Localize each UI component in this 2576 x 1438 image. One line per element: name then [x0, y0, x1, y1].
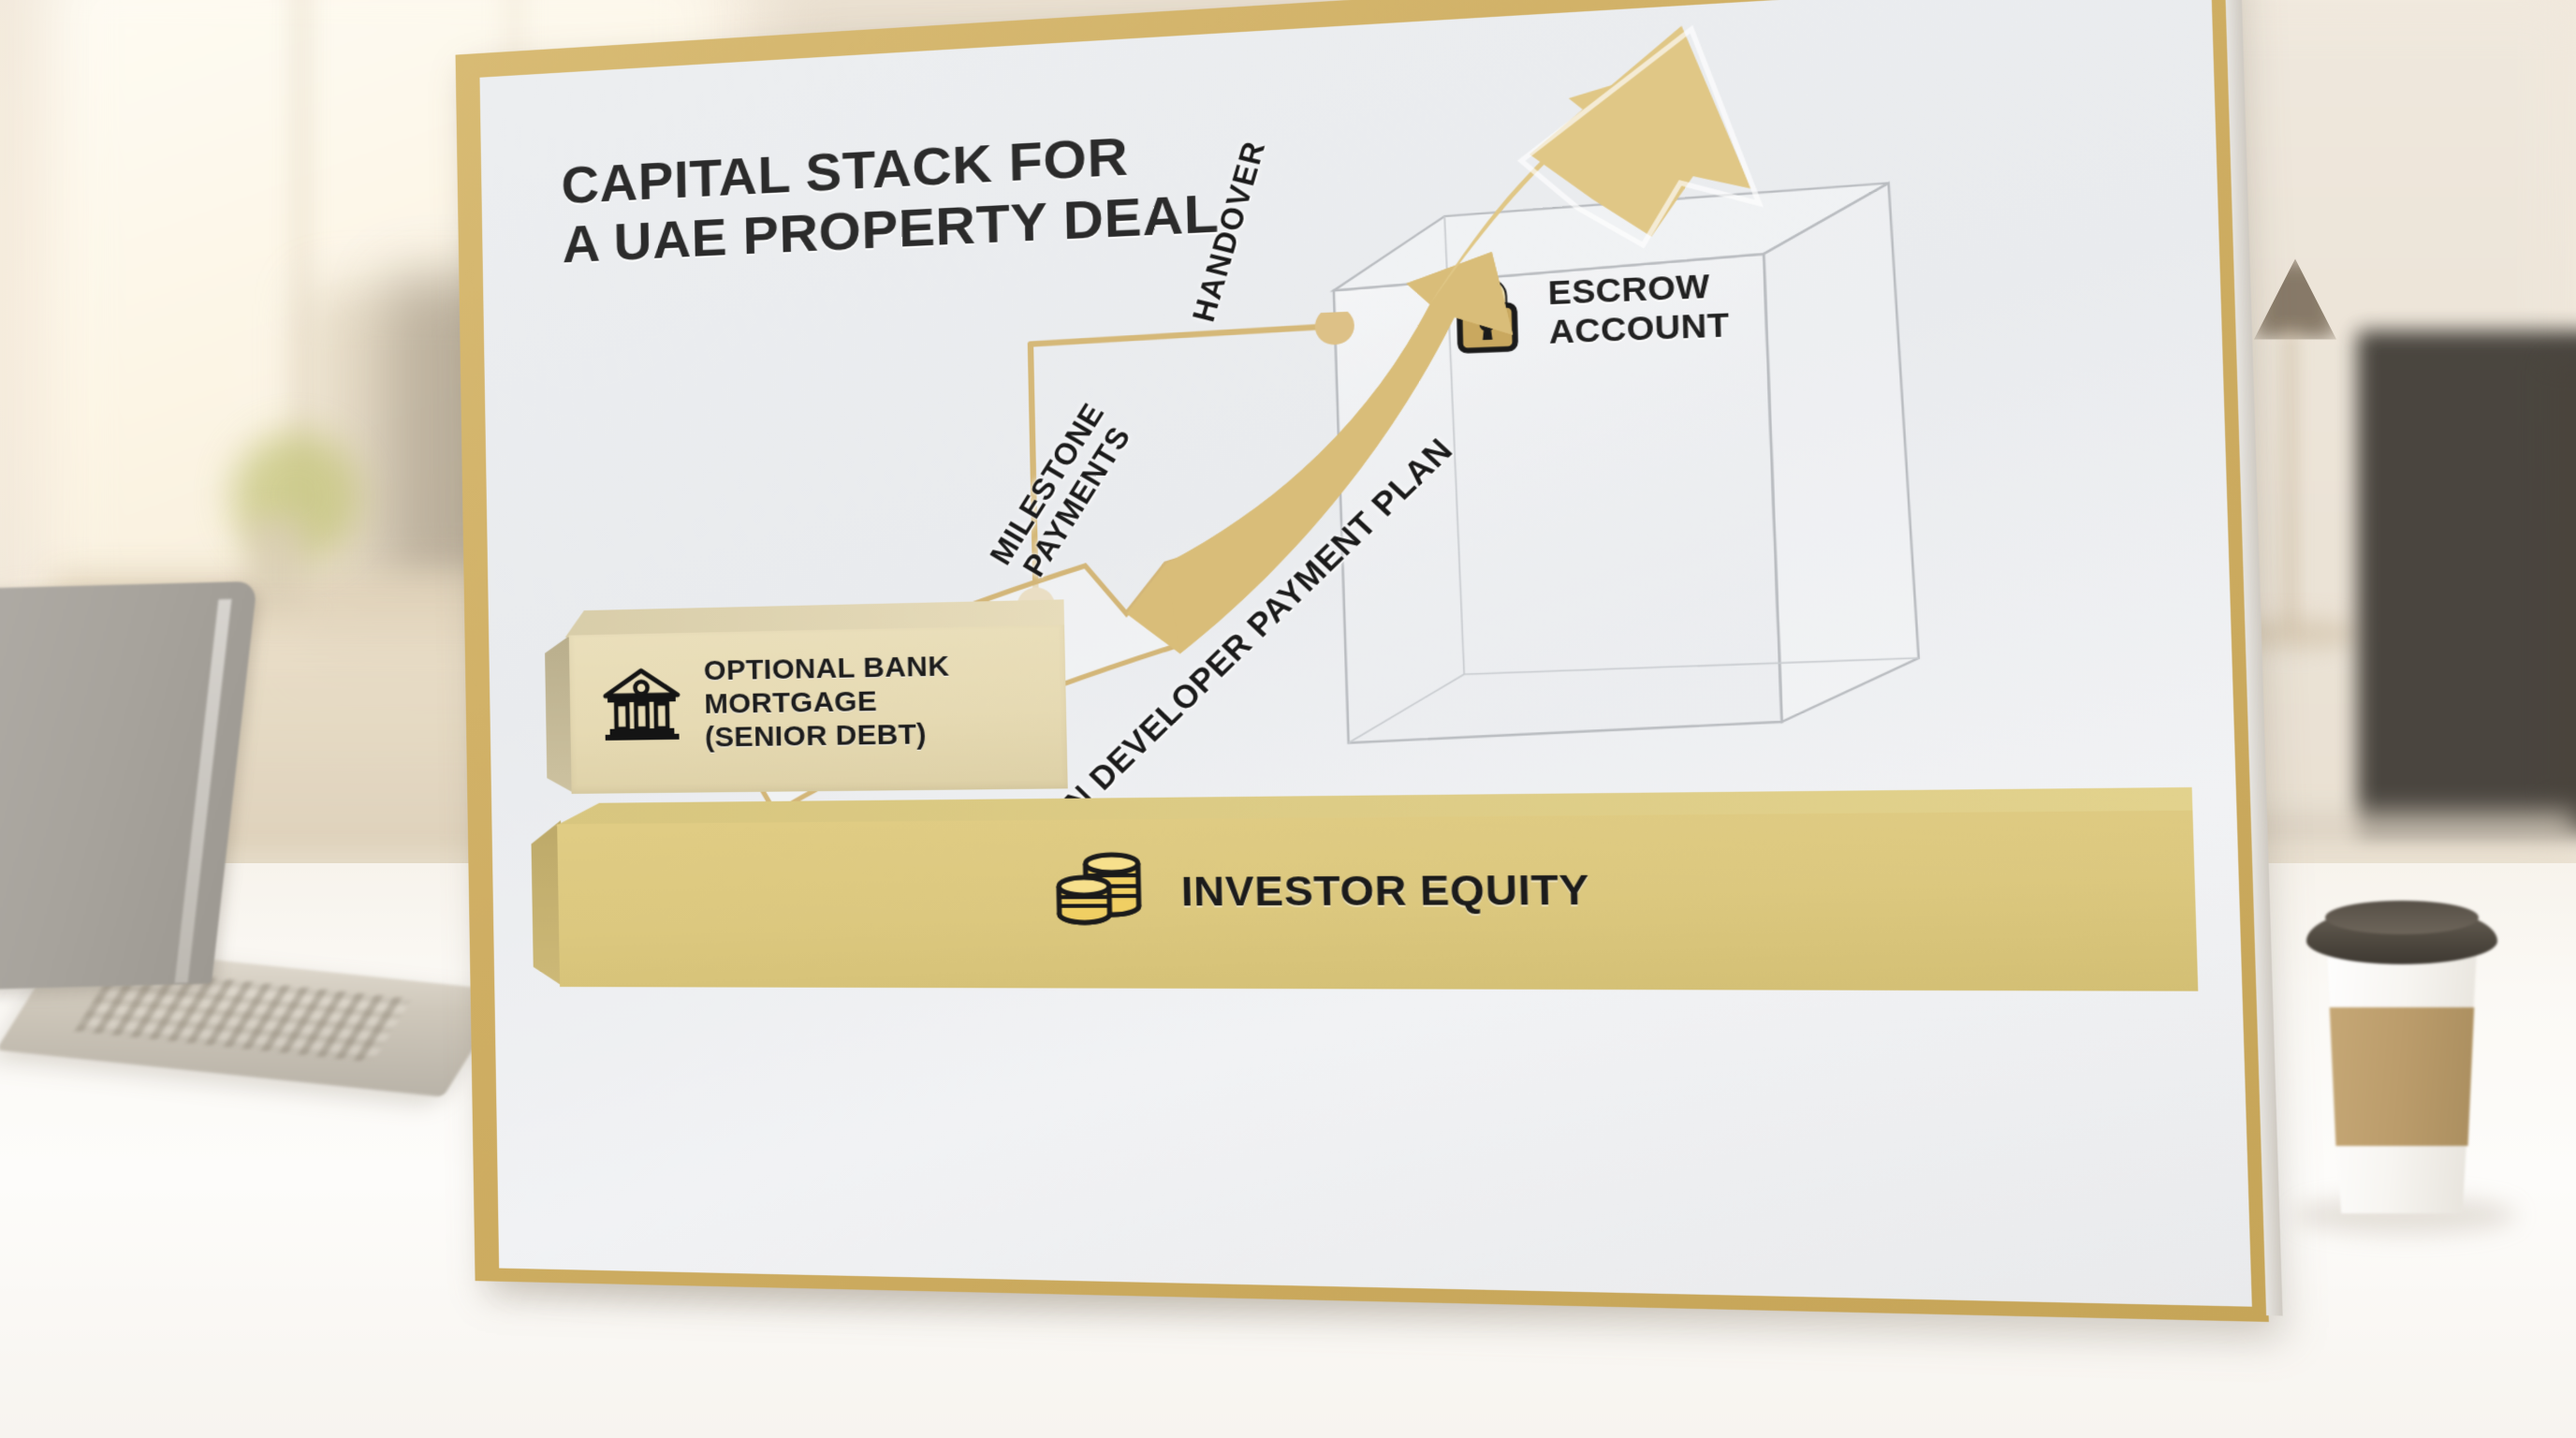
escrow-account-label: ESCROW ACCOUNT: [1547, 266, 1730, 352]
escrow-account-item: ESCROW ACCOUNT: [1448, 260, 1730, 360]
coffee-cup-icon: [2301, 888, 2503, 1225]
mortgage-label: OPTIONAL BANK MORTGAGE (SENIOR DEBT): [703, 651, 951, 755]
connector-node-escrow: [1314, 308, 1354, 345]
monitor-icon: [2357, 330, 2576, 834]
monitor-secondary-icon: [2550, 359, 2576, 805]
equity-label: INVESTOR EQUITY: [1180, 866, 1590, 916]
coin-stack-icon: [1053, 849, 1148, 934]
padlock-icon: [1448, 270, 1526, 361]
desk-lamp-stem: [2285, 330, 2296, 633]
equity-slab: INVESTOR EQUITY: [531, 811, 2198, 1000]
page-title: CAPITAL STACK FOR A UAE PROPERTY DEAL: [561, 122, 1220, 274]
bank-building-icon: [601, 664, 681, 747]
cup-lid-top: [2325, 901, 2479, 934]
vase-icon: [247, 518, 304, 619]
capital-stack-poster: CAPITAL STACK FOR A UAE PROPERTY DEAL: [456, 0, 2269, 1322]
mortgage-slab: OPTIONAL BANK MORTGAGE (SENIOR DEBT): [545, 624, 1070, 800]
poster-face: CAPITAL STACK FOR A UAE PROPERTY DEAL: [479, 0, 2251, 1307]
office-desk-scene: CAPITAL STACK FOR A UAE PROPERTY DEAL: [0, 0, 2576, 1438]
cup-sleeve: [2323, 1007, 2481, 1146]
equity-content: INVESTOR EQUITY: [1053, 845, 1591, 934]
mortgage-content: OPTIONAL BANK MORTGAGE (SENIOR DEBT): [601, 651, 951, 756]
